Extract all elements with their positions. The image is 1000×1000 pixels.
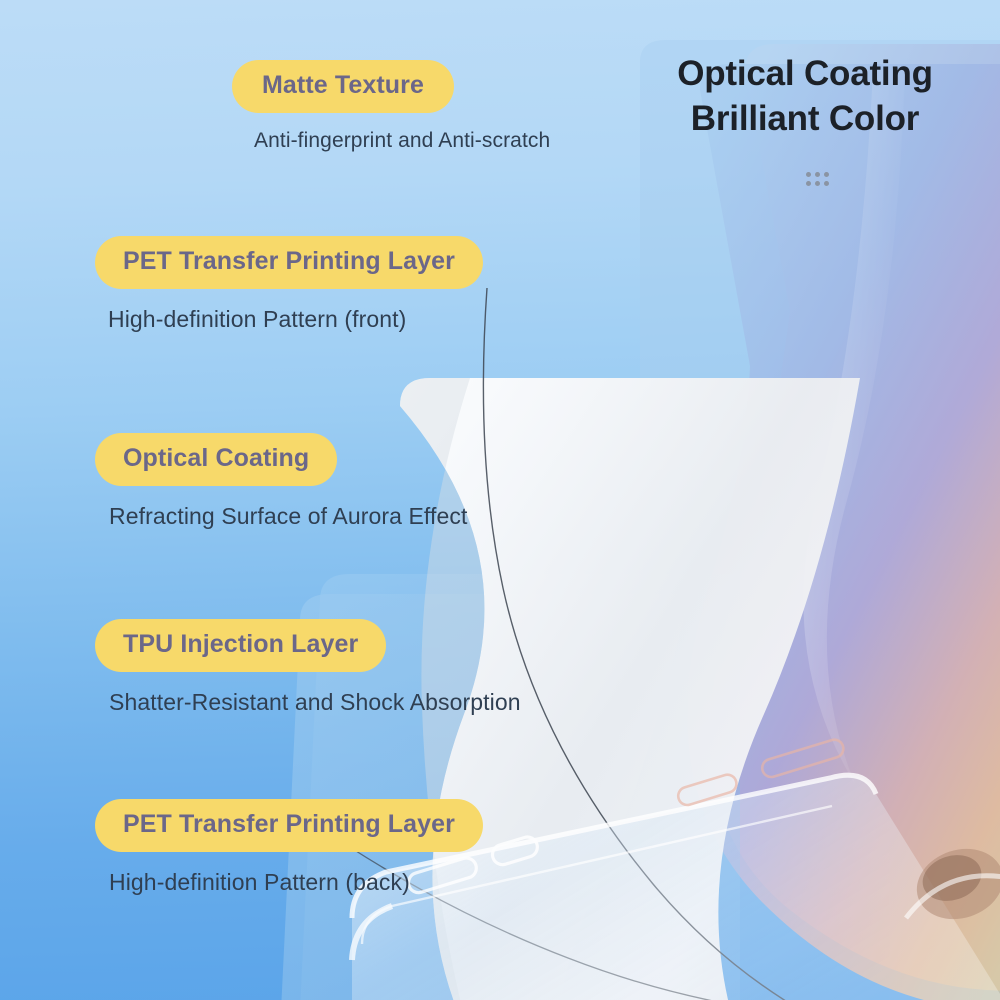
feature-callout: Matte Texture Anti-fingerprint and Anti-… <box>232 60 550 153</box>
dot-grid-dot <box>824 181 829 186</box>
feature-title-badge: PET Transfer Printing Layer <box>95 799 483 852</box>
feature-title-badge: TPU Injection Layer <box>95 619 386 672</box>
feature-callout: TPU Injection Layer Shatter-Resistant an… <box>95 619 521 716</box>
headline-line-1: Optical Coating <box>620 52 990 97</box>
dot-grid-icon <box>806 172 829 186</box>
feature-title-badge: PET Transfer Printing Layer <box>95 236 483 289</box>
page-title: Optical Coating Brilliant Color <box>620 52 990 142</box>
dot-grid-dot <box>806 172 811 177</box>
dot-grid-dot <box>815 181 820 186</box>
headline-line-2: Brilliant Color <box>620 97 990 142</box>
feature-callout: Optical Coating Refracting Surface of Au… <box>95 433 467 530</box>
dot-grid-dot <box>806 181 811 186</box>
feature-callout: PET Transfer Printing Layer High-definit… <box>95 236 483 333</box>
feature-description: Refracting Surface of Aurora Effect <box>109 503 467 530</box>
feature-description: High-definition Pattern (back) <box>109 869 483 896</box>
feature-description: Anti-fingerprint and Anti-scratch <box>254 129 550 153</box>
product-layer-infographic: Optical Coating Brilliant Color Matte Te… <box>0 0 1000 1000</box>
feature-title-badge: Matte Texture <box>232 60 454 113</box>
feature-description: High-definition Pattern (front) <box>108 306 483 333</box>
feature-description: Shatter-Resistant and Shock Absorption <box>109 689 521 716</box>
dot-grid-dot <box>824 172 829 177</box>
feature-title-badge: Optical Coating <box>95 433 337 486</box>
feature-callout: PET Transfer Printing Layer High-definit… <box>95 799 483 896</box>
dot-grid-dot <box>815 172 820 177</box>
